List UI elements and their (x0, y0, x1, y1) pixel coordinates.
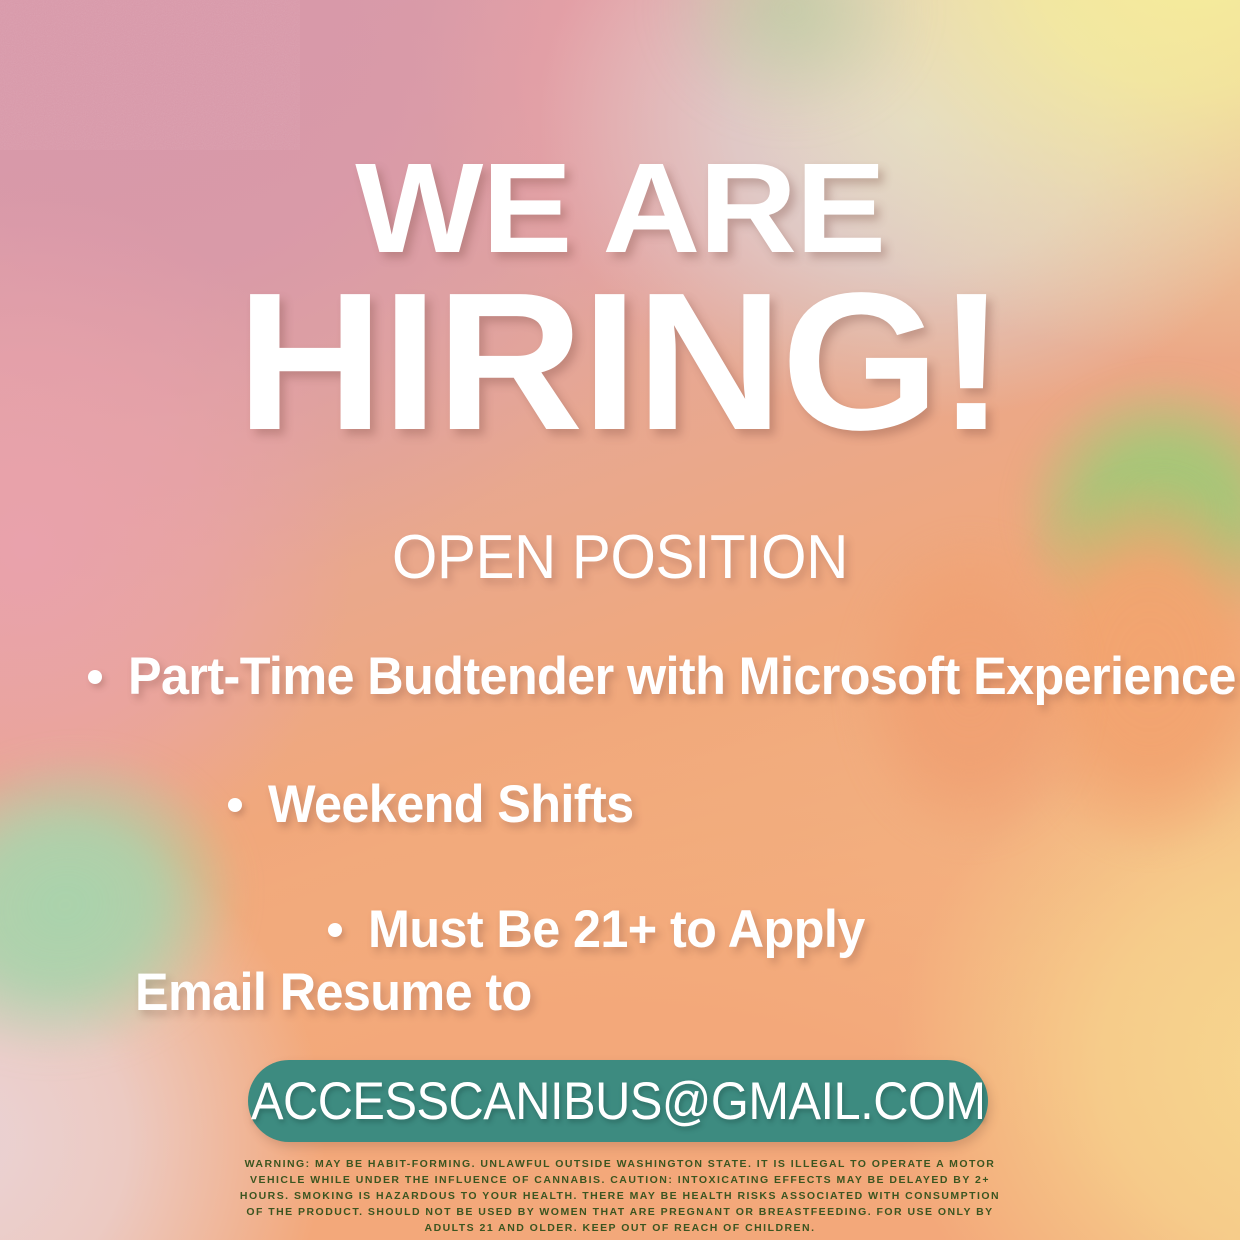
poster-content: WE ARE HIRING! OPEN POSITION Part-Time B… (0, 0, 1240, 1240)
list-item-label: Weekend Shifts (268, 774, 634, 835)
legal-warning-text: WARNING: MAY BE HABIT-FORMING. UNLAWFUL … (232, 1157, 1008, 1237)
bullet-dot-icon (228, 798, 242, 812)
email-address-text: ACCESSCANIBUS@GMAIL.COM (251, 1071, 986, 1132)
email-address-button[interactable]: ACCESSCANIBUS@GMAIL.COM (248, 1060, 988, 1142)
list-item-label: Must Be 21+ to Apply (368, 899, 865, 960)
open-position-bullet-list: Part-Time Budtender with Microsoft Exper… (0, 646, 1240, 960)
bullet-dot-icon (328, 923, 342, 937)
subtitle-open-position: OPEN POSITION (37, 522, 1203, 593)
list-item: Weekend Shifts (228, 774, 1240, 835)
list-item: Part-Time Budtender with Microsoft Exper… (88, 646, 1240, 707)
headline-line-we-are: WE ARE (0, 150, 1240, 268)
email-resume-label: Email Resume to (135, 962, 532, 1023)
hiring-poster: WE ARE HIRING! OPEN POSITION Part-Time B… (0, 0, 1240, 1240)
list-item-label: Part-Time Budtender with Microsoft Exper… (128, 646, 1236, 707)
list-item: Must Be 21+ to Apply (328, 899, 1240, 960)
headline-line-hiring: HIRING! (0, 272, 1240, 452)
headline-block: WE ARE HIRING! (0, 150, 1240, 452)
bullet-dot-icon (88, 670, 102, 684)
